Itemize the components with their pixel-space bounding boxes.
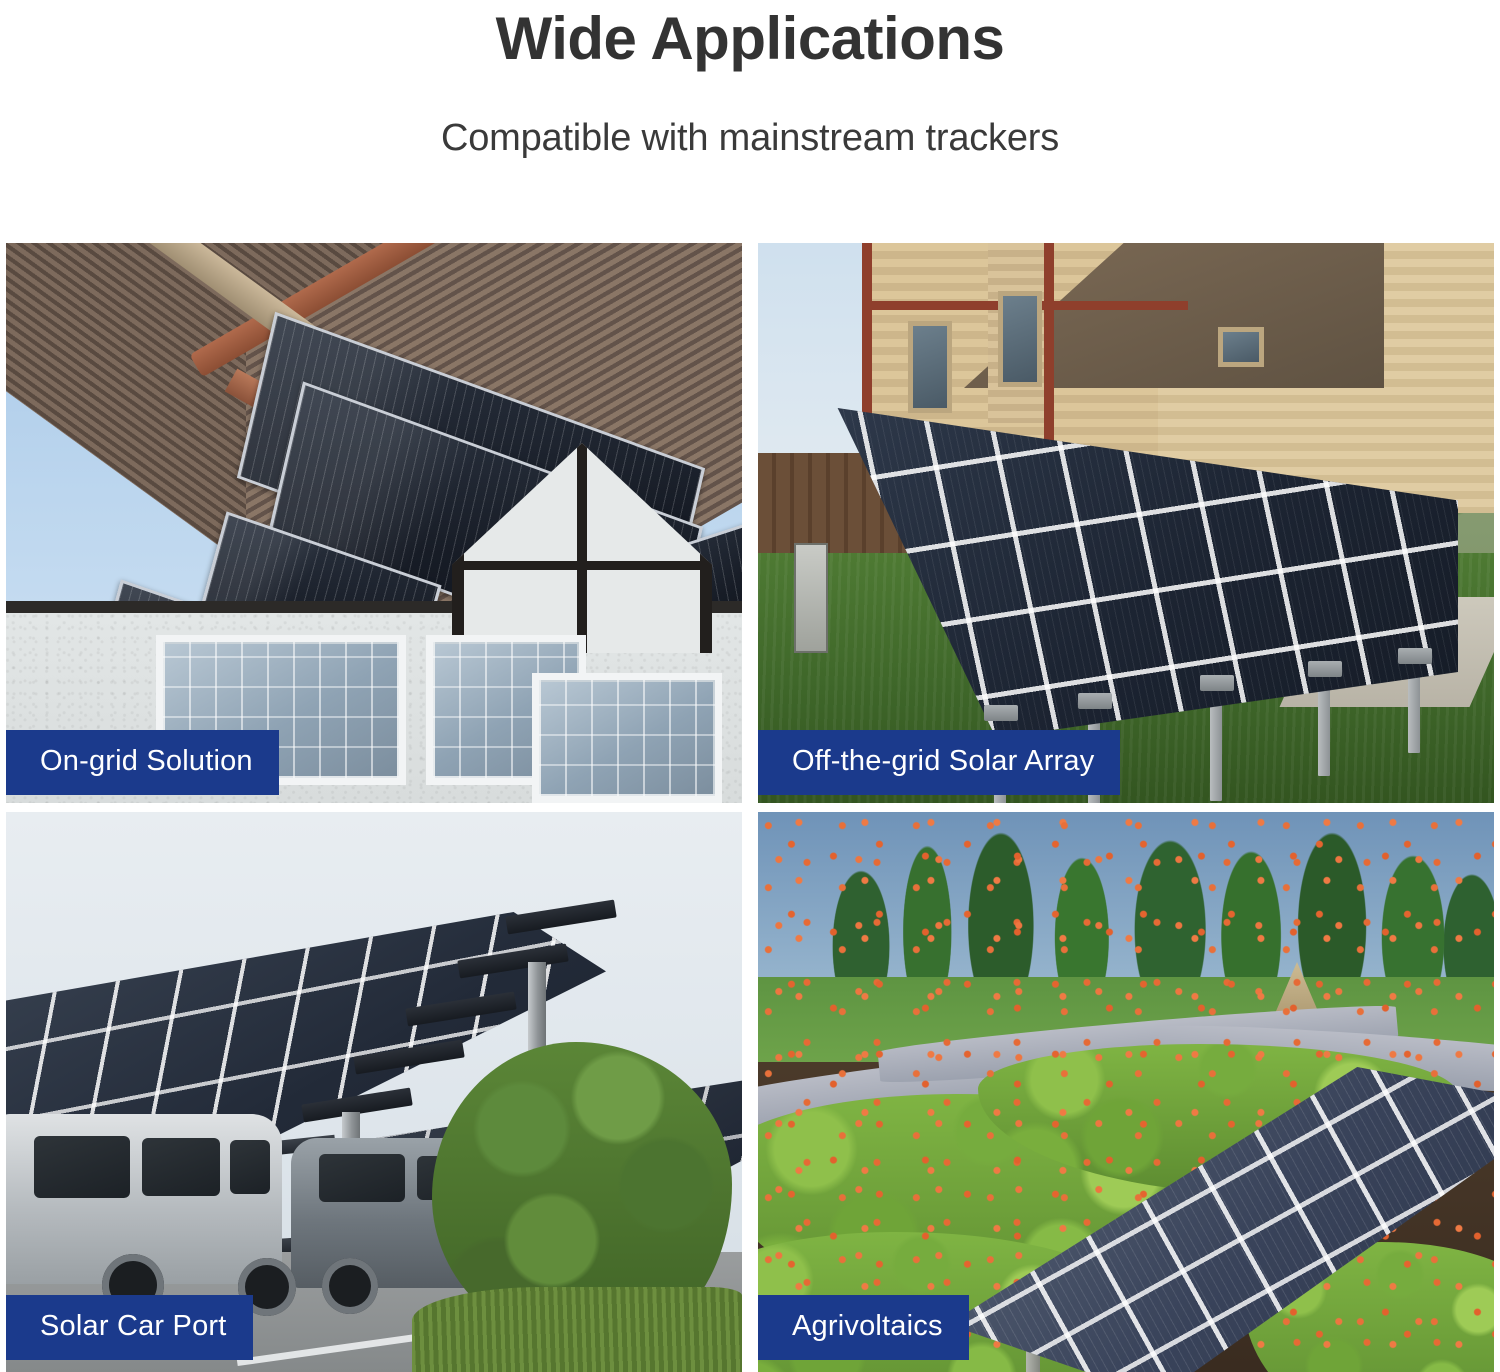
vehicle-window xyxy=(230,1140,270,1194)
gallery-tile-solar-car-port[interactable]: Solar Car Port xyxy=(6,812,742,1372)
house-window xyxy=(1218,327,1264,367)
vehicle-wheel xyxy=(322,1258,378,1314)
roadside-grass xyxy=(412,1287,742,1372)
gable-beam xyxy=(452,561,712,570)
page-title: Wide Applications xyxy=(496,4,1005,73)
mounting-clamp xyxy=(1308,661,1342,677)
mounting-clamp xyxy=(1398,648,1432,664)
vehicle-window xyxy=(34,1136,130,1198)
house-window xyxy=(908,321,952,413)
tile-caption-badge: Agrivoltaics xyxy=(758,1295,969,1360)
photo-agrivoltaics xyxy=(758,812,1494,1372)
mounting-clamp xyxy=(1200,675,1234,691)
photo-off-the-grid-solar-array xyxy=(758,243,1494,803)
window-mullions xyxy=(539,680,715,796)
gallery-tile-agrivoltaics[interactable]: Agrivoltaics xyxy=(758,812,1494,1372)
mounting-clamp xyxy=(1078,693,1112,709)
photo-on-grid-solution xyxy=(6,243,742,803)
gallery-tile-off-the-grid-solar-array[interactable]: Off-the-grid Solar Array xyxy=(758,243,1494,803)
tile-caption-badge: On-grid Solution xyxy=(6,730,279,795)
vehicle-window xyxy=(142,1138,220,1196)
photo-solar-car-port xyxy=(6,812,742,1372)
house-window xyxy=(532,673,722,803)
page-subtitle: Compatible with mainstream trackers xyxy=(441,117,1059,160)
mounting-clamp xyxy=(984,705,1018,721)
wide-applications-page: Wide Applications Compatible with mainst… xyxy=(0,0,1500,1372)
gallery-tile-on-grid-solution[interactable]: On-grid Solution xyxy=(6,243,742,803)
application-gallery-grid: On-grid Solution xyxy=(6,243,1495,1372)
tile-caption-badge: Solar Car Port xyxy=(6,1295,253,1360)
gable-beam xyxy=(577,443,587,653)
vehicle-window xyxy=(319,1154,405,1202)
utility-meter xyxy=(794,543,828,653)
house-window xyxy=(998,291,1042,387)
page-header: Wide Applications Compatible with mainst… xyxy=(0,0,1500,243)
tile-caption-badge: Off-the-grid Solar Array xyxy=(758,730,1120,795)
house-trim xyxy=(1044,243,1054,458)
